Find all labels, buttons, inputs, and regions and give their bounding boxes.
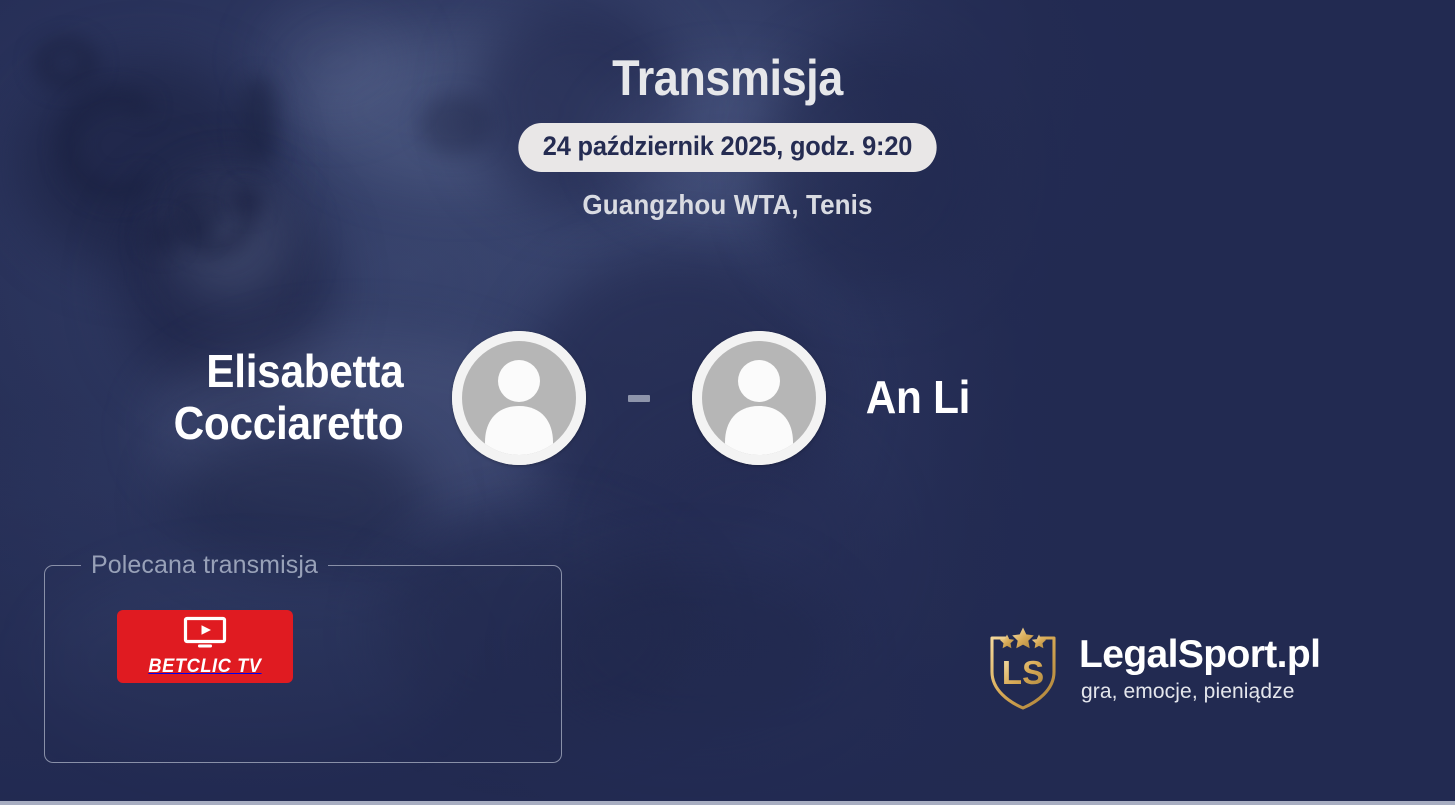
bottom-rule [0, 801, 1455, 805]
page-title: Transmisja [73, 52, 1383, 105]
betclic-tv-label: BETCLIC TV [148, 656, 261, 678]
shield-stars-icon: LS [985, 624, 1061, 715]
brand-text: LegalSport.pl gra, emocje, pieniądze [1079, 635, 1320, 705]
match-row: Elisabetta Cocciaretto [0, 318, 1260, 478]
card-content: Transmisja 24 październik 2025, godz. 9:… [0, 0, 1455, 805]
match-datetime-badge: 24 październik 2025, godz. 9:20 [518, 123, 936, 173]
broadcast-list: BETCLIC TV [45, 580, 561, 683]
away-player-name: An Li [849, 372, 1153, 424]
home-side: Elisabetta Cocciaretto [94, 331, 586, 465]
broadcast-promo-card: Transmisja 24 październik 2025, godz. 9:… [0, 0, 1455, 805]
away-avatar [692, 331, 826, 465]
brand-monogram: LS [1002, 654, 1044, 691]
tv-play-icon [183, 616, 227, 653]
home-player-name: Elisabetta Cocciaretto [107, 346, 411, 449]
recommended-broadcast-legend: Polecana transmisja [81, 551, 328, 580]
user-placeholder-icon [692, 331, 826, 465]
header: Transmisja 24 październik 2025, godz. 9:… [0, 0, 1455, 221]
away-side: An Li [692, 331, 1166, 465]
brand-name: LegalSport.pl [1079, 635, 1320, 676]
brand-logo: LS LegalSport.pl gra, emocje, pieniądze [985, 624, 1320, 715]
competition-label: Guangzhou WTA, Tenis [51, 189, 1404, 221]
betclic-tv-button[interactable]: BETCLIC TV [117, 610, 293, 683]
recommended-broadcast-panel: Polecana transmisja BETCLIC TV [44, 551, 562, 763]
home-avatar [452, 331, 586, 465]
user-placeholder-icon [452, 331, 586, 465]
brand-tagline: gra, emocje, pieniądze [1081, 680, 1320, 704]
score-separator [628, 395, 650, 402]
